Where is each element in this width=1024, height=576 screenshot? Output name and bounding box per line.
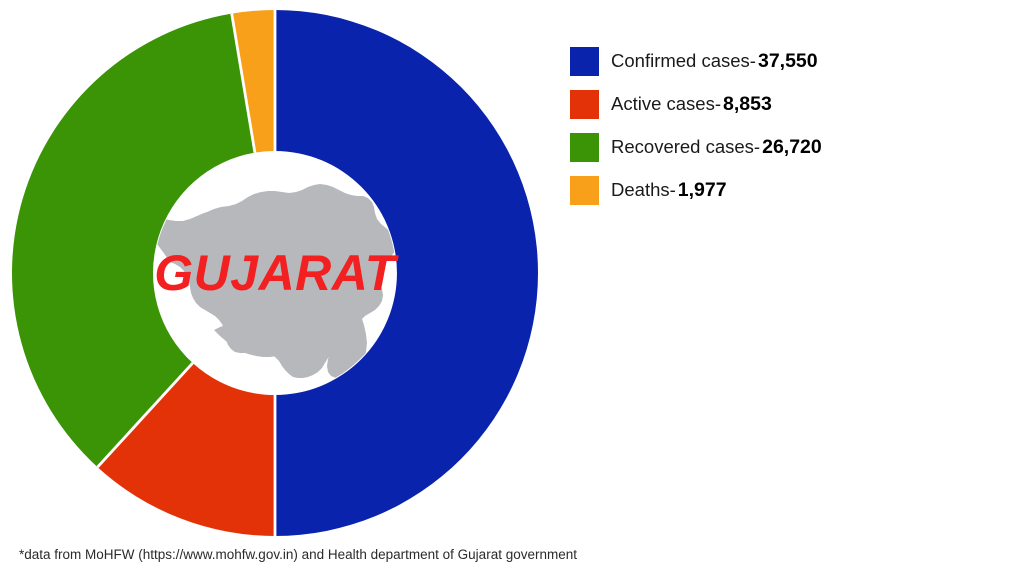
- chart-legend: Confirmed cases-37,550 Active cases-8,85…: [570, 40, 1000, 212]
- legend-swatch-confirmed-icon: [570, 47, 599, 76]
- legend-label-deaths: Deaths-1,977: [611, 181, 727, 201]
- source-footnote: *data from MoHFW (https://www.mohfw.gov.…: [19, 548, 577, 562]
- legend-label-deaths-text: Deaths-: [611, 179, 676, 200]
- legend-label-active: Active cases-8,853: [611, 95, 772, 115]
- legend-item-active[interactable]: Active cases-8,853: [570, 83, 1000, 126]
- legend-value-active: 8,853: [723, 93, 772, 115]
- legend-label-recovered-text: Recovered cases-: [611, 136, 760, 157]
- legend-label-recovered: Recovered cases-26,720: [611, 138, 822, 158]
- legend-swatch-deaths-icon: [570, 176, 599, 205]
- legend-value-recovered: 26,720: [762, 136, 822, 158]
- legend-item-confirmed[interactable]: Confirmed cases-37,550: [570, 40, 1000, 83]
- legend-value-confirmed: 37,550: [758, 50, 818, 72]
- legend-item-deaths[interactable]: Deaths-1,977: [570, 169, 1000, 212]
- donut-chart-svg: [0, 0, 560, 545]
- legend-item-recovered[interactable]: Recovered cases-26,720: [570, 126, 1000, 169]
- slide-canvas: GUJARAT Confirmed cases-37,550 Active ca…: [0, 0, 1024, 576]
- donut-chart: GUJARAT: [0, 0, 560, 545]
- legend-swatch-active-icon: [570, 90, 599, 119]
- legend-label-confirmed: Confirmed cases-37,550: [611, 52, 818, 72]
- legend-swatch-recovered-icon: [570, 133, 599, 162]
- legend-label-confirmed-text: Confirmed cases-: [611, 50, 756, 71]
- legend-label-active-text: Active cases-: [611, 93, 721, 114]
- legend-value-deaths: 1,977: [678, 179, 727, 201]
